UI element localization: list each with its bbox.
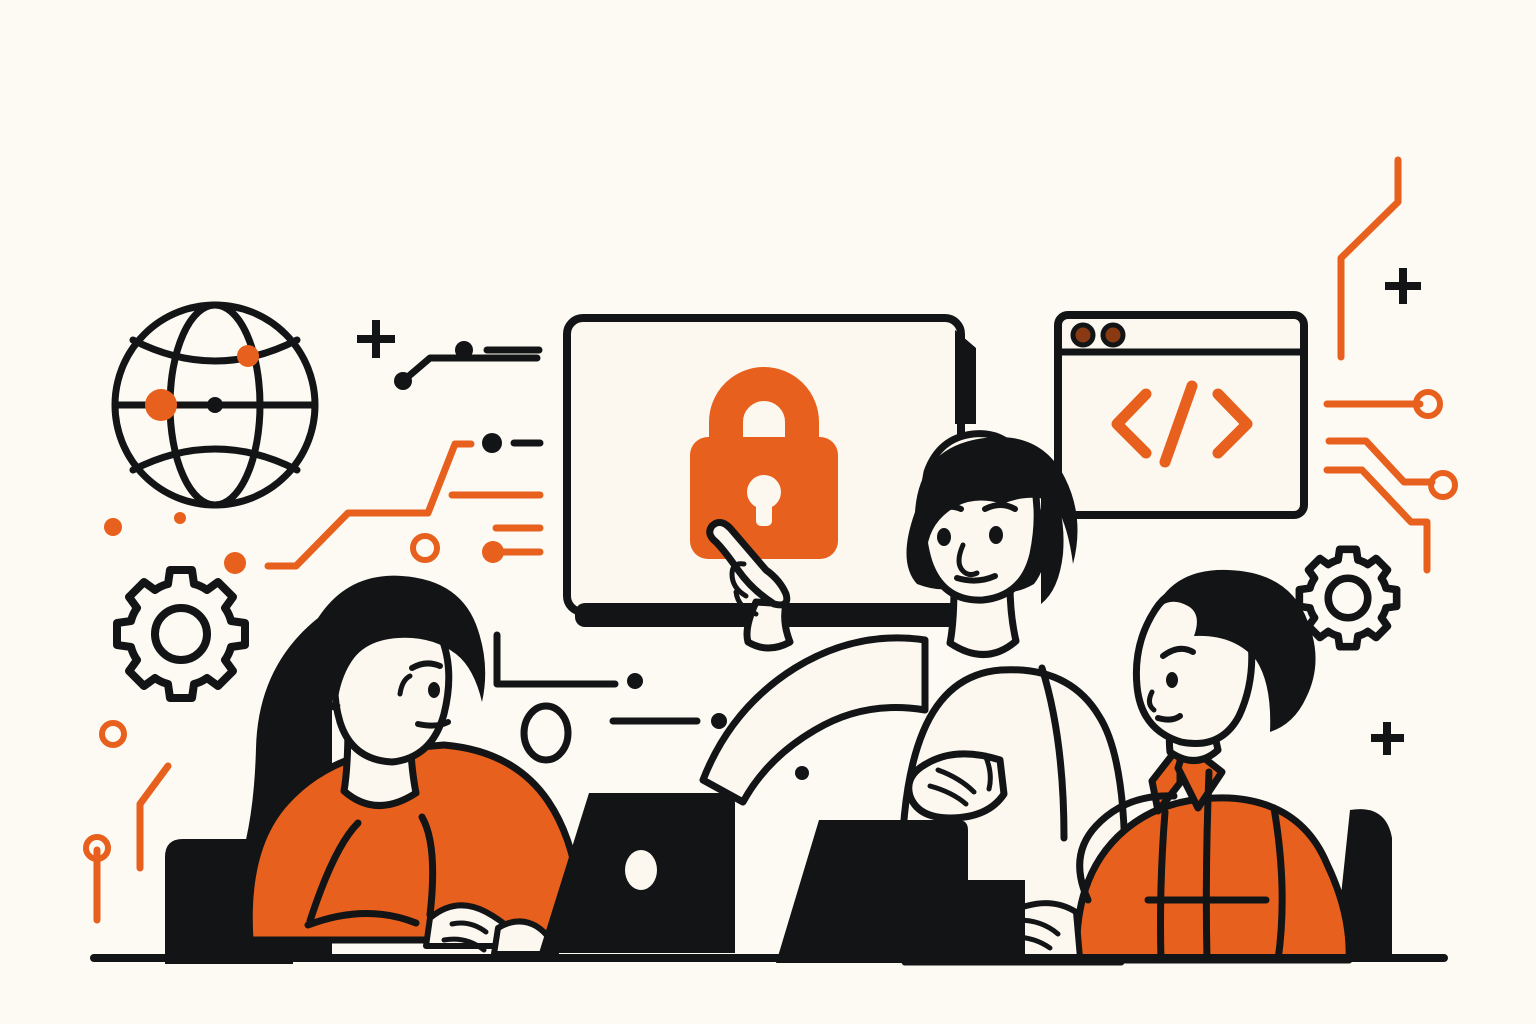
illustration-artwork: .ink{fill:none;stroke:#121416;} .inkf{fi… (0, 0, 1536, 1024)
illustration-canvas: TLS VS SSL BASICS DEFINITIONS, HISTORY, … (0, 0, 1536, 1024)
browser-window (1058, 315, 1304, 515)
